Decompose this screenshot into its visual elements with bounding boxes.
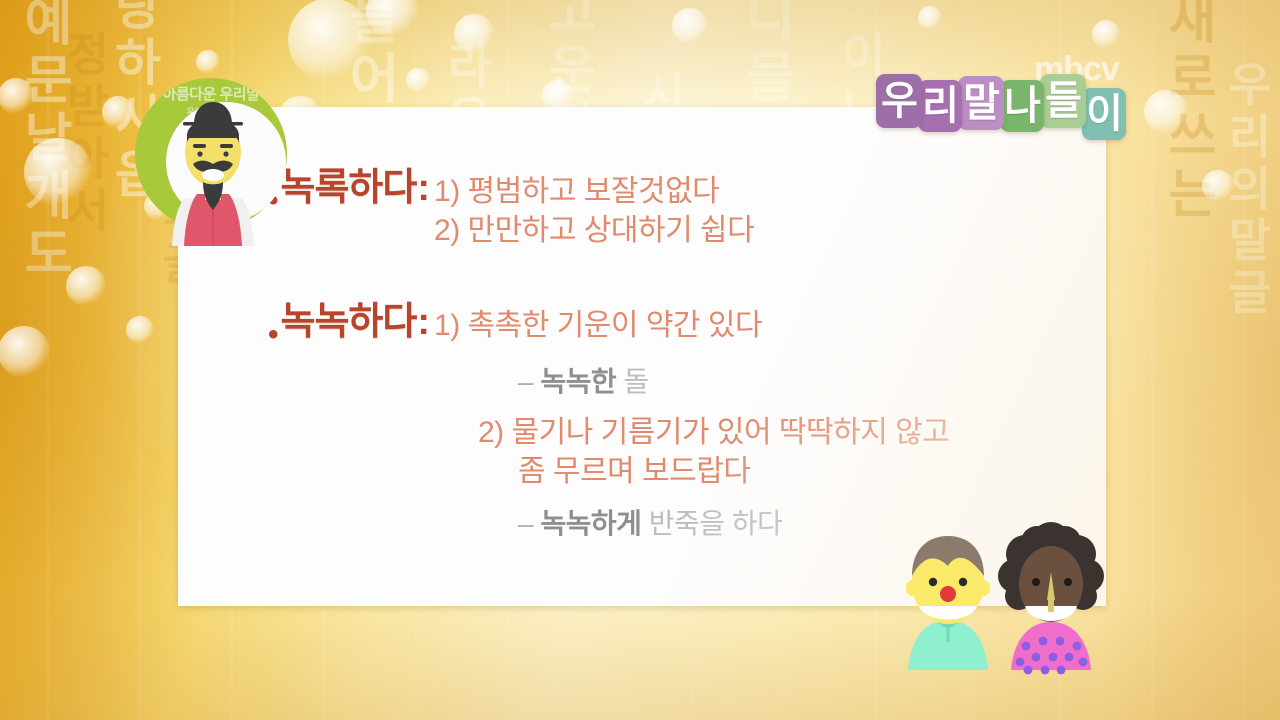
- example-dash: –: [518, 508, 533, 539]
- headword-colon: :: [417, 169, 430, 207]
- bokeh-light: [288, 0, 372, 82]
- bokeh-light: [24, 138, 92, 206]
- bullet-icon: •: [268, 320, 279, 350]
- sense-item: 2) 물기나 기름기가 있어 딱딱하지 않고 좀 무르며 보드랍다: [478, 413, 949, 491]
- bokeh-light: [126, 316, 154, 344]
- sense-item: 1) 촉촉한 기운이 약간 있다: [434, 306, 762, 345]
- sense-text: 촉촉한 기운이 약간 있다: [468, 309, 763, 342]
- bokeh-light: [1144, 90, 1188, 134]
- scholar-character-icon: [163, 86, 263, 246]
- afro-kid: [998, 522, 1104, 674]
- logo-block-4: 들: [1040, 74, 1086, 128]
- kid-characters: [893, 520, 1108, 680]
- example-line: – 녹녹하게 반죽을 하다: [518, 505, 782, 543]
- bokeh-light: [454, 14, 494, 54]
- sense-text: 만만하고 상대하기 쉽다: [468, 214, 755, 247]
- sense-number: 1): [434, 309, 460, 342]
- yellow-face-kid: [906, 536, 990, 670]
- example-line: – 녹녹한 돌: [518, 363, 649, 401]
- sense-line-1: 2) 물기나 기름기가 있어 딱딱하지 않고: [478, 413, 949, 452]
- two-kids-icon: [893, 520, 1108, 680]
- sense-text: 물기나 기름기가 있어 딱딱하지 않고: [512, 416, 950, 449]
- example-rest: 반죽을 하다: [649, 508, 783, 539]
- dictionary-entry: • 녹녹하다 : 1) 촉촉한 기운이 약간 있다: [268, 303, 762, 350]
- logo-block-3: 나: [1000, 80, 1044, 132]
- logo-block-1: 리: [918, 80, 962, 132]
- bokeh-light: [918, 6, 942, 30]
- example-keyword: 녹녹한: [540, 366, 616, 397]
- logo-block-0: 우: [876, 74, 922, 128]
- headword-group: • 녹녹하다 :: [268, 303, 434, 350]
- headword: 녹록하다: [281, 169, 417, 207]
- headword-group: • 녹록하다 :: [268, 169, 434, 250]
- mascot-figure: [163, 86, 263, 246]
- dictionary-entry: • 녹록하다 : 1) 평범하고 보잘것없다 2) 만만하고 상대하기 쉽다: [268, 169, 754, 250]
- bokeh-light: [1202, 170, 1234, 202]
- sense-number: 1): [434, 175, 460, 208]
- bokeh-light: [102, 96, 134, 128]
- sense-line-2: 좀 무르며 보드랍다: [478, 452, 949, 491]
- sense-number: 2): [434, 214, 460, 247]
- mascot-badge: 아름다운 우리말우리말 고운말섞고 재미있는우리말아름다운 고운말나들이 우리말…: [135, 78, 287, 276]
- bokeh-light: [196, 50, 220, 74]
- sense-list: 1) 평범하고 보잘것없다 2) 만만하고 상대하기 쉽다: [434, 169, 754, 250]
- sense-item: 2) 만만하고 상대하기 쉽다: [434, 211, 754, 250]
- sense-number: 2): [478, 416, 504, 449]
- bokeh-light: [1092, 20, 1120, 48]
- headword: 녹녹하다: [281, 303, 417, 341]
- headword-colon: :: [417, 303, 430, 341]
- bokeh-light: [406, 68, 430, 92]
- example-dash: –: [518, 366, 533, 397]
- bokeh-light: [66, 266, 106, 306]
- bokeh-light: [0, 326, 50, 378]
- sense-item: 1) 평범하고 보잘것없다: [434, 172, 754, 211]
- bokeh-light: [672, 8, 708, 44]
- sense-text: 평범하고 보잘것없다: [468, 175, 720, 208]
- logo-block-5: 이: [1082, 88, 1126, 140]
- example-keyword: 녹녹하게: [540, 508, 641, 539]
- sense-list: 1) 촉촉한 기운이 약간 있다: [434, 303, 762, 350]
- example-rest: 돌: [623, 366, 648, 397]
- logo-block-2: 말: [958, 76, 1004, 130]
